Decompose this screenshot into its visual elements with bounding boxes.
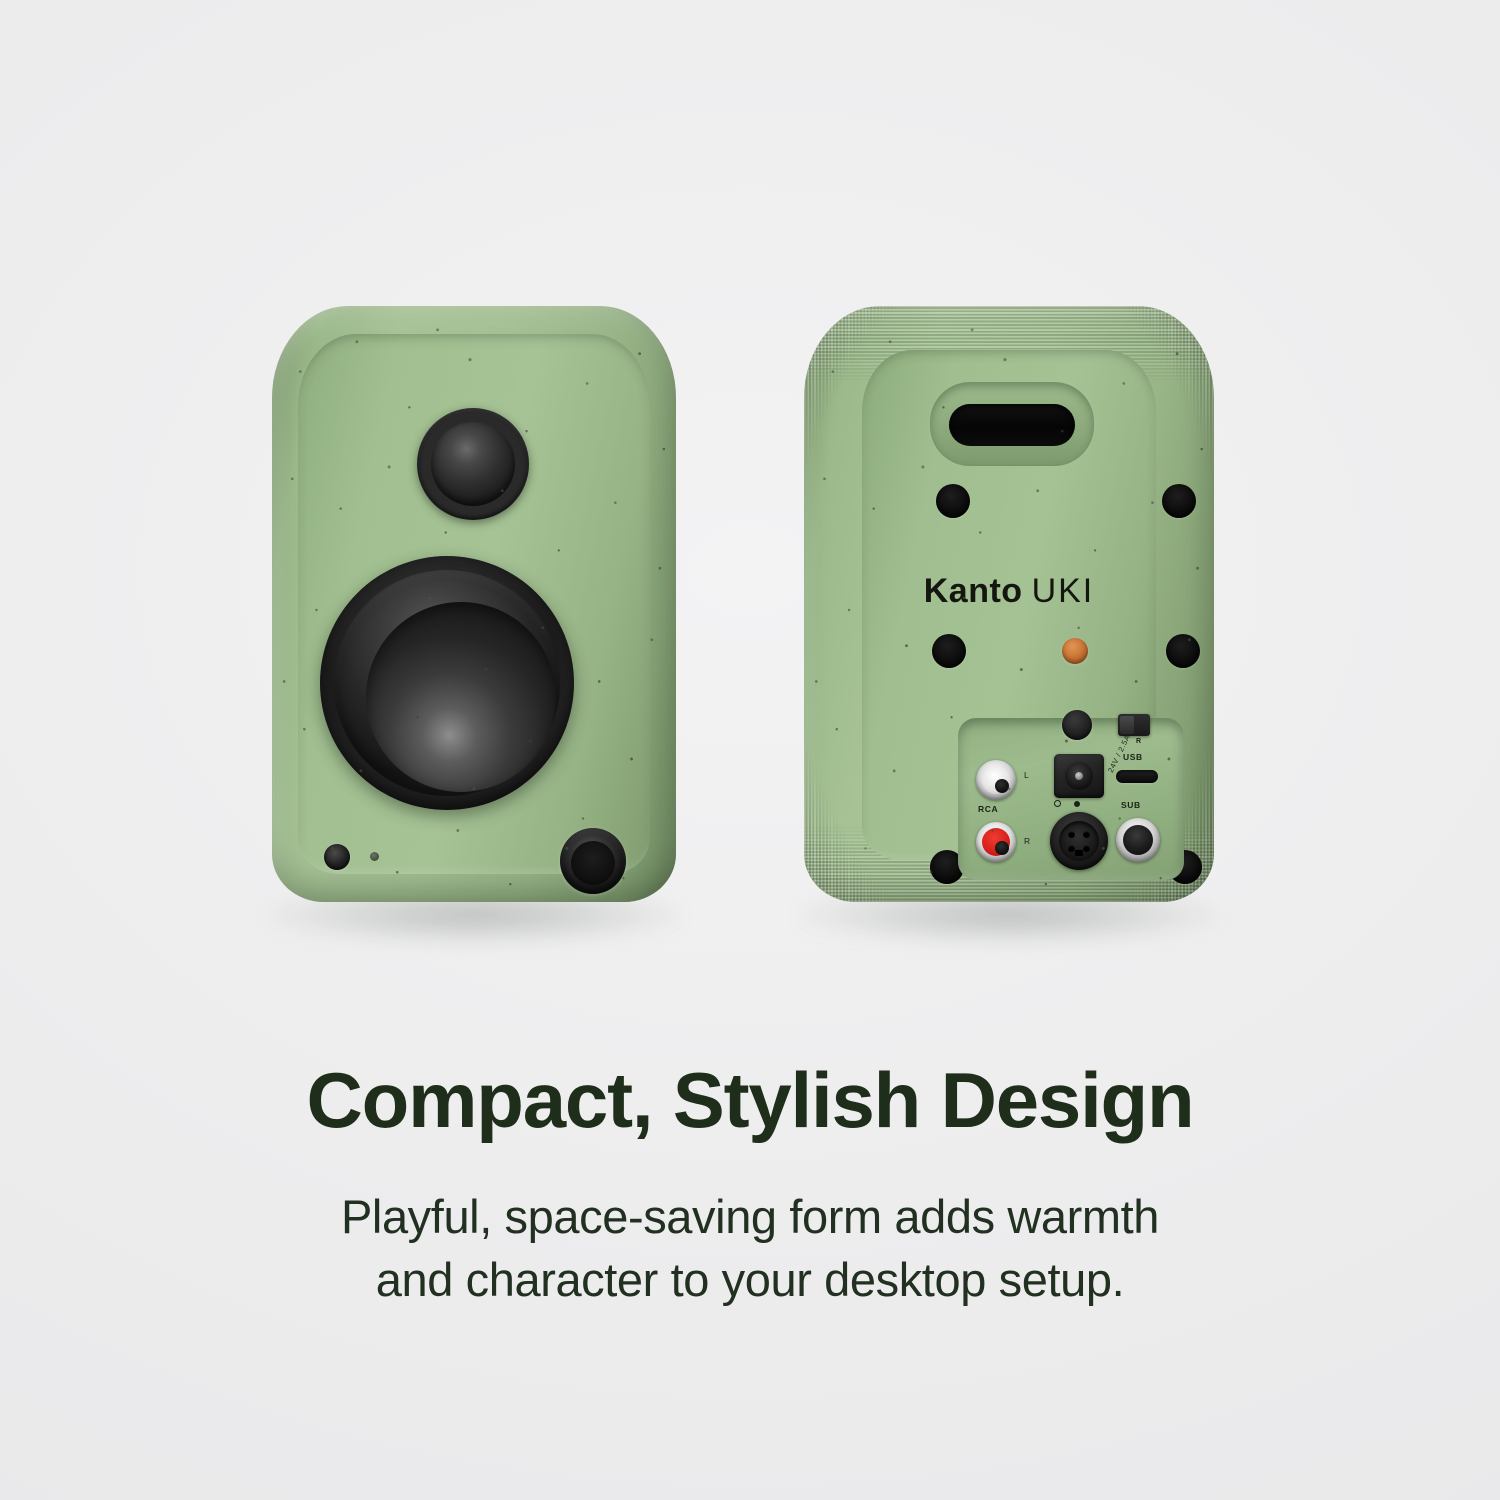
switch-label: R <box>1136 738 1142 745</box>
headline: Compact, Stylish Design <box>0 1060 1500 1142</box>
rca-jack-left[interactable] <box>976 760 1016 800</box>
product-photo: KantoUKI R <box>0 0 1500 1010</box>
subwoofer-output-jack[interactable] <box>1116 818 1160 862</box>
brand-name: Kanto <box>924 572 1023 610</box>
din-polarity-marks <box>1054 798 1094 808</box>
din-keyway <box>1075 850 1083 856</box>
ir-sensor <box>324 844 350 870</box>
rca-right-label: R <box>1024 836 1031 846</box>
usb-label: USB <box>1123 752 1143 762</box>
woofer-driver <box>320 556 574 810</box>
woofer-surround <box>334 570 560 796</box>
speaker-rear-view: KantoUKI R <box>804 306 1214 902</box>
woofer-cone <box>366 602 556 792</box>
rca-left-label: L <box>1024 770 1029 780</box>
subcopy-line-2: and character to your desktop setup. <box>0 1249 1500 1312</box>
rear-indicator-light <box>1062 638 1088 664</box>
slide-switch-knob[interactable] <box>1120 716 1134 734</box>
din-mark-dot-icon <box>1074 801 1080 807</box>
dc-power-jack[interactable] <box>1054 754 1104 798</box>
rca-pin <box>995 779 1009 793</box>
io-panel: R RCA L R <box>958 718 1184 880</box>
speaker-front-view <box>272 306 676 902</box>
bass-port-front <box>560 828 626 894</box>
sub-label: SUB <box>1121 800 1141 810</box>
din-inner <box>1059 821 1099 861</box>
rear-plate: KantoUKI R <box>862 350 1156 860</box>
sub-jack-inner <box>1123 825 1153 855</box>
mount-hole <box>1166 634 1200 668</box>
rca-jack-right[interactable] <box>976 822 1016 862</box>
din-pin <box>1083 845 1090 852</box>
rca-label: RCA <box>978 804 998 814</box>
usb-c-port[interactable] <box>1116 770 1158 783</box>
caption-block: Compact, Stylish Design Playful, space-s… <box>0 1060 1500 1312</box>
rca-pin <box>995 841 1009 855</box>
din-pin <box>1083 831 1090 838</box>
dc-jack-hole <box>1065 762 1093 790</box>
mount-hole <box>1162 484 1196 518</box>
din-pin <box>1068 845 1075 852</box>
tweeter-dome <box>431 422 515 506</box>
subcopy-line-1: Playful, space-saving form adds warmth <box>0 1186 1500 1249</box>
status-led <box>370 852 379 861</box>
dc-jack-pin <box>1075 772 1083 780</box>
din-speaker-link-jack[interactable] <box>1050 812 1108 870</box>
din-pin <box>1068 831 1075 838</box>
rear-bass-port-recess <box>930 382 1094 466</box>
rear-bass-port-slot <box>949 404 1075 446</box>
subcopy: Playful, space-saving form adds warmth a… <box>0 1186 1500 1312</box>
rca-ring <box>982 766 1010 794</box>
brand-logo: KantoUKI <box>862 572 1156 611</box>
mount-hole <box>936 484 970 518</box>
rca-ring <box>982 828 1010 856</box>
brand-model: UKI <box>1032 572 1095 610</box>
tweeter-driver <box>417 408 529 520</box>
pairing-button[interactable] <box>1062 710 1092 740</box>
mount-hole <box>932 634 966 668</box>
product-marketing-image: KantoUKI R <box>0 0 1500 1500</box>
din-mark-open-icon <box>1054 800 1061 807</box>
